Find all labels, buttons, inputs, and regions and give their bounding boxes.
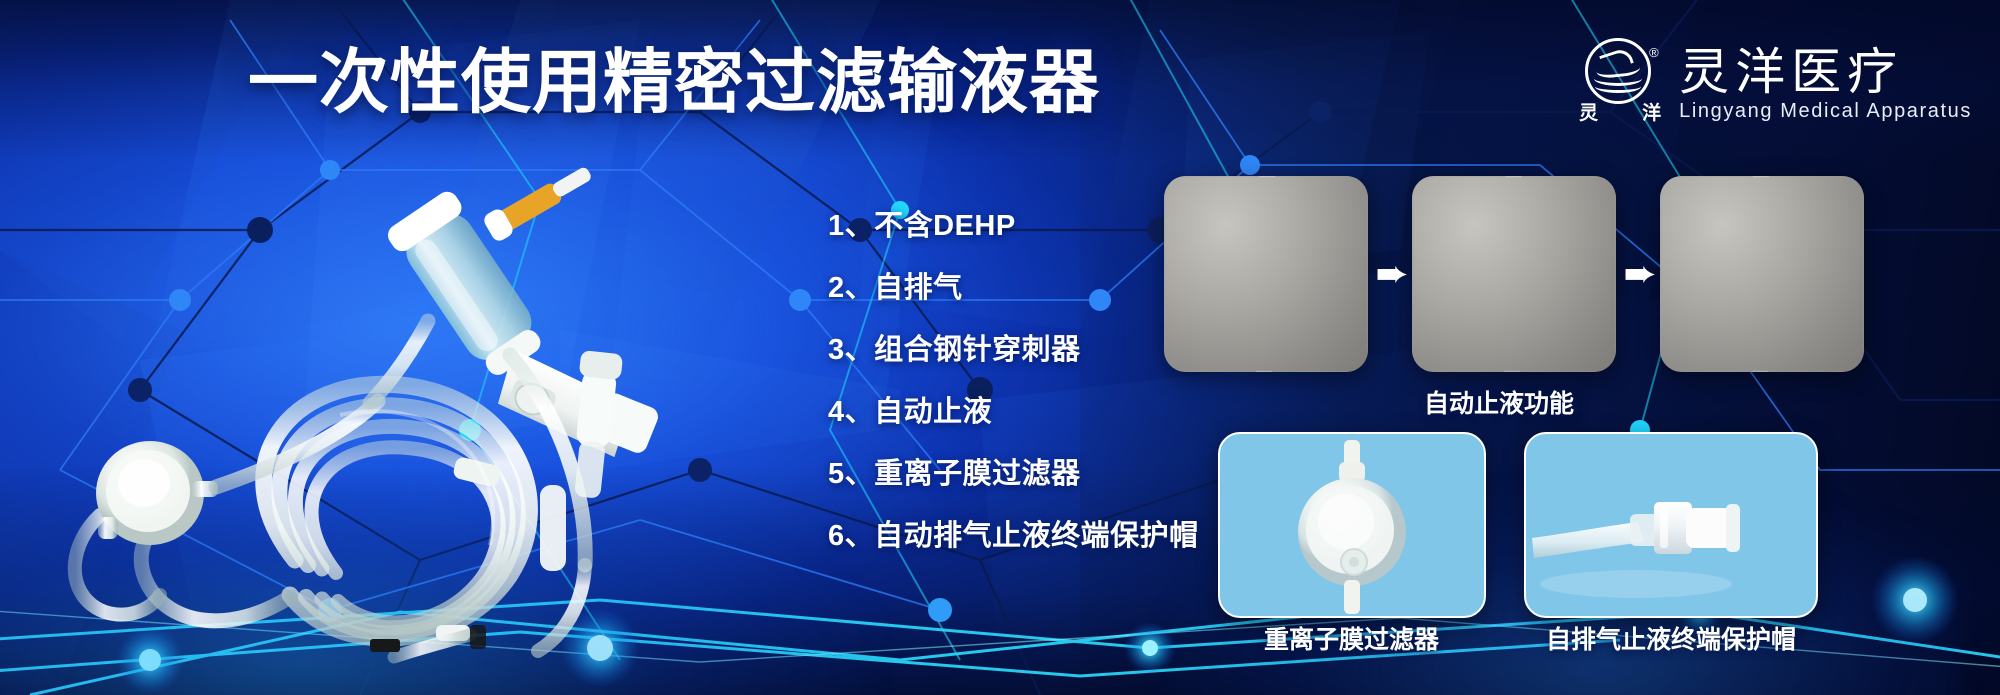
membrane-filter-part [96, 441, 218, 545]
protective-cap-photo [1524, 432, 1818, 618]
flow-regulator-part [540, 485, 566, 571]
auto-stop-photo-1 [1164, 176, 1368, 372]
steel-needle-spike-part [481, 165, 596, 244]
brand-name-en: Lingyang Medical Apparatus [1679, 101, 1972, 121]
feature-item-2: 2、自排气 [828, 274, 1199, 303]
feature-list: 1、不含DEHP 2、自排气 3、组合钢针穿刺器 4、自动止液 5、重离子膜过滤… [828, 212, 1199, 551]
feature-item-1: 1、不含DEHP [828, 212, 1199, 241]
logo-mark-char-right: 洋 [1642, 104, 1661, 123]
filter-photo [1218, 432, 1486, 618]
feature-item-6: 6、自动排气止液终端保护帽 [828, 522, 1199, 551]
protective-cap-illustration [1526, 434, 1816, 616]
feature-item-4: 4、自动止液 [828, 398, 1199, 427]
registered-trademark-icon: ® [1649, 46, 1659, 59]
feature-item-3: 3、组合钢针穿刺器 [828, 336, 1199, 365]
logo-mark-char-left: 灵 [1579, 104, 1598, 123]
product-banner: 一次性使用精密过滤输液器 ® 灵 洋 灵洋医疗 Lingyang Medical… [0, 0, 2000, 695]
sequence-arrow-2-icon: ➨ [1620, 254, 1660, 294]
logo-mark-icon: ® 灵 洋 [1579, 38, 1661, 130]
product-photo [40, 165, 800, 665]
product-illustration [40, 165, 800, 665]
auto-stop-photo-2 [1412, 176, 1616, 372]
sequence-arrow-1-icon: ➨ [1372, 254, 1412, 294]
brand-name-cn: 灵洋医疗 [1679, 47, 1972, 97]
heavy-ion-membrane-filter-illustration [1220, 434, 1484, 616]
caption-filter: 重离子膜过滤器 [1264, 628, 1439, 653]
auto-stop-photo-3 [1660, 176, 1864, 372]
logo-wave-3-icon [1595, 80, 1641, 93]
feature-item-5: 5、重离子膜过滤器 [828, 460, 1199, 489]
caption-protective-cap: 自排气止液终端保护帽 [1546, 628, 1796, 653]
brand-text: 灵洋医疗 Lingyang Medical Apparatus [1679, 47, 1972, 121]
brand-logo: ® 灵 洋 灵洋医疗 Lingyang Medical Apparatus [1579, 38, 1972, 130]
logo-mark-characters: 灵 洋 [1579, 104, 1661, 123]
caption-auto-stop: 自动止液功能 [1424, 392, 1574, 417]
page-title: 一次性使用精密过滤输液器 [248, 47, 1100, 117]
